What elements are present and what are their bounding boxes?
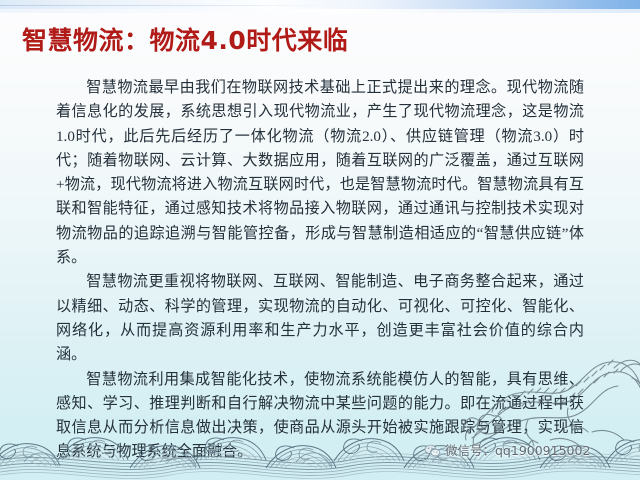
watermark: 微信号：qq1900915002 (424, 444, 590, 459)
slide-canvas: 智慧物流：物流4.0时代来临 智慧物流最早由我们在物联网技术基础上正式提出来的理… (0, 0, 640, 480)
page-title: 智慧物流：物流4.0时代来临 (22, 21, 348, 57)
top-strip-hairline (0, 5, 330, 6)
wechat-icon (424, 444, 441, 459)
top-gradient-strip-under (0, 9, 640, 13)
body-paragraph-1: 智慧物流最早由我们在物联网技术基础上正式提出来的理念。现代物流随着信息化的发展，… (56, 76, 584, 270)
watermark-text: 微信号：qq1900915002 (445, 445, 590, 458)
